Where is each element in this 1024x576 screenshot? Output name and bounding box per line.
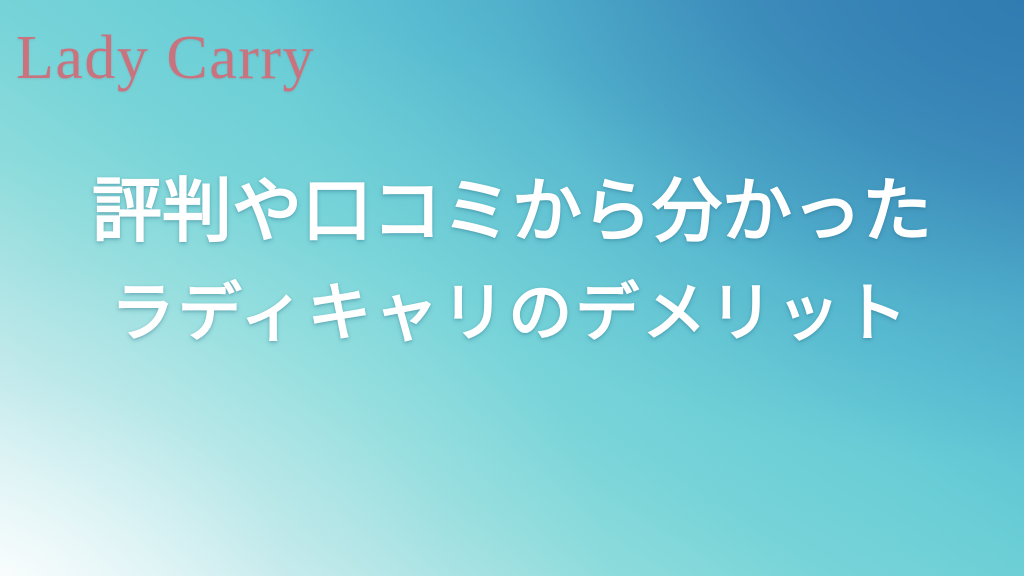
- headline-line-1: 評判や口コミから分かった: [92, 176, 932, 246]
- headline-block: 評判や口コミから分かった ラディキャリのデメリット: [0, 176, 1024, 346]
- slide-canvas: Lady Carry 評判や口コミから分かった ラディキャリのデメリット: [0, 0, 1024, 576]
- brand-wordmark: Lady Carry: [16, 27, 315, 89]
- headline-line-2: ラディキャリのデメリット: [111, 282, 914, 346]
